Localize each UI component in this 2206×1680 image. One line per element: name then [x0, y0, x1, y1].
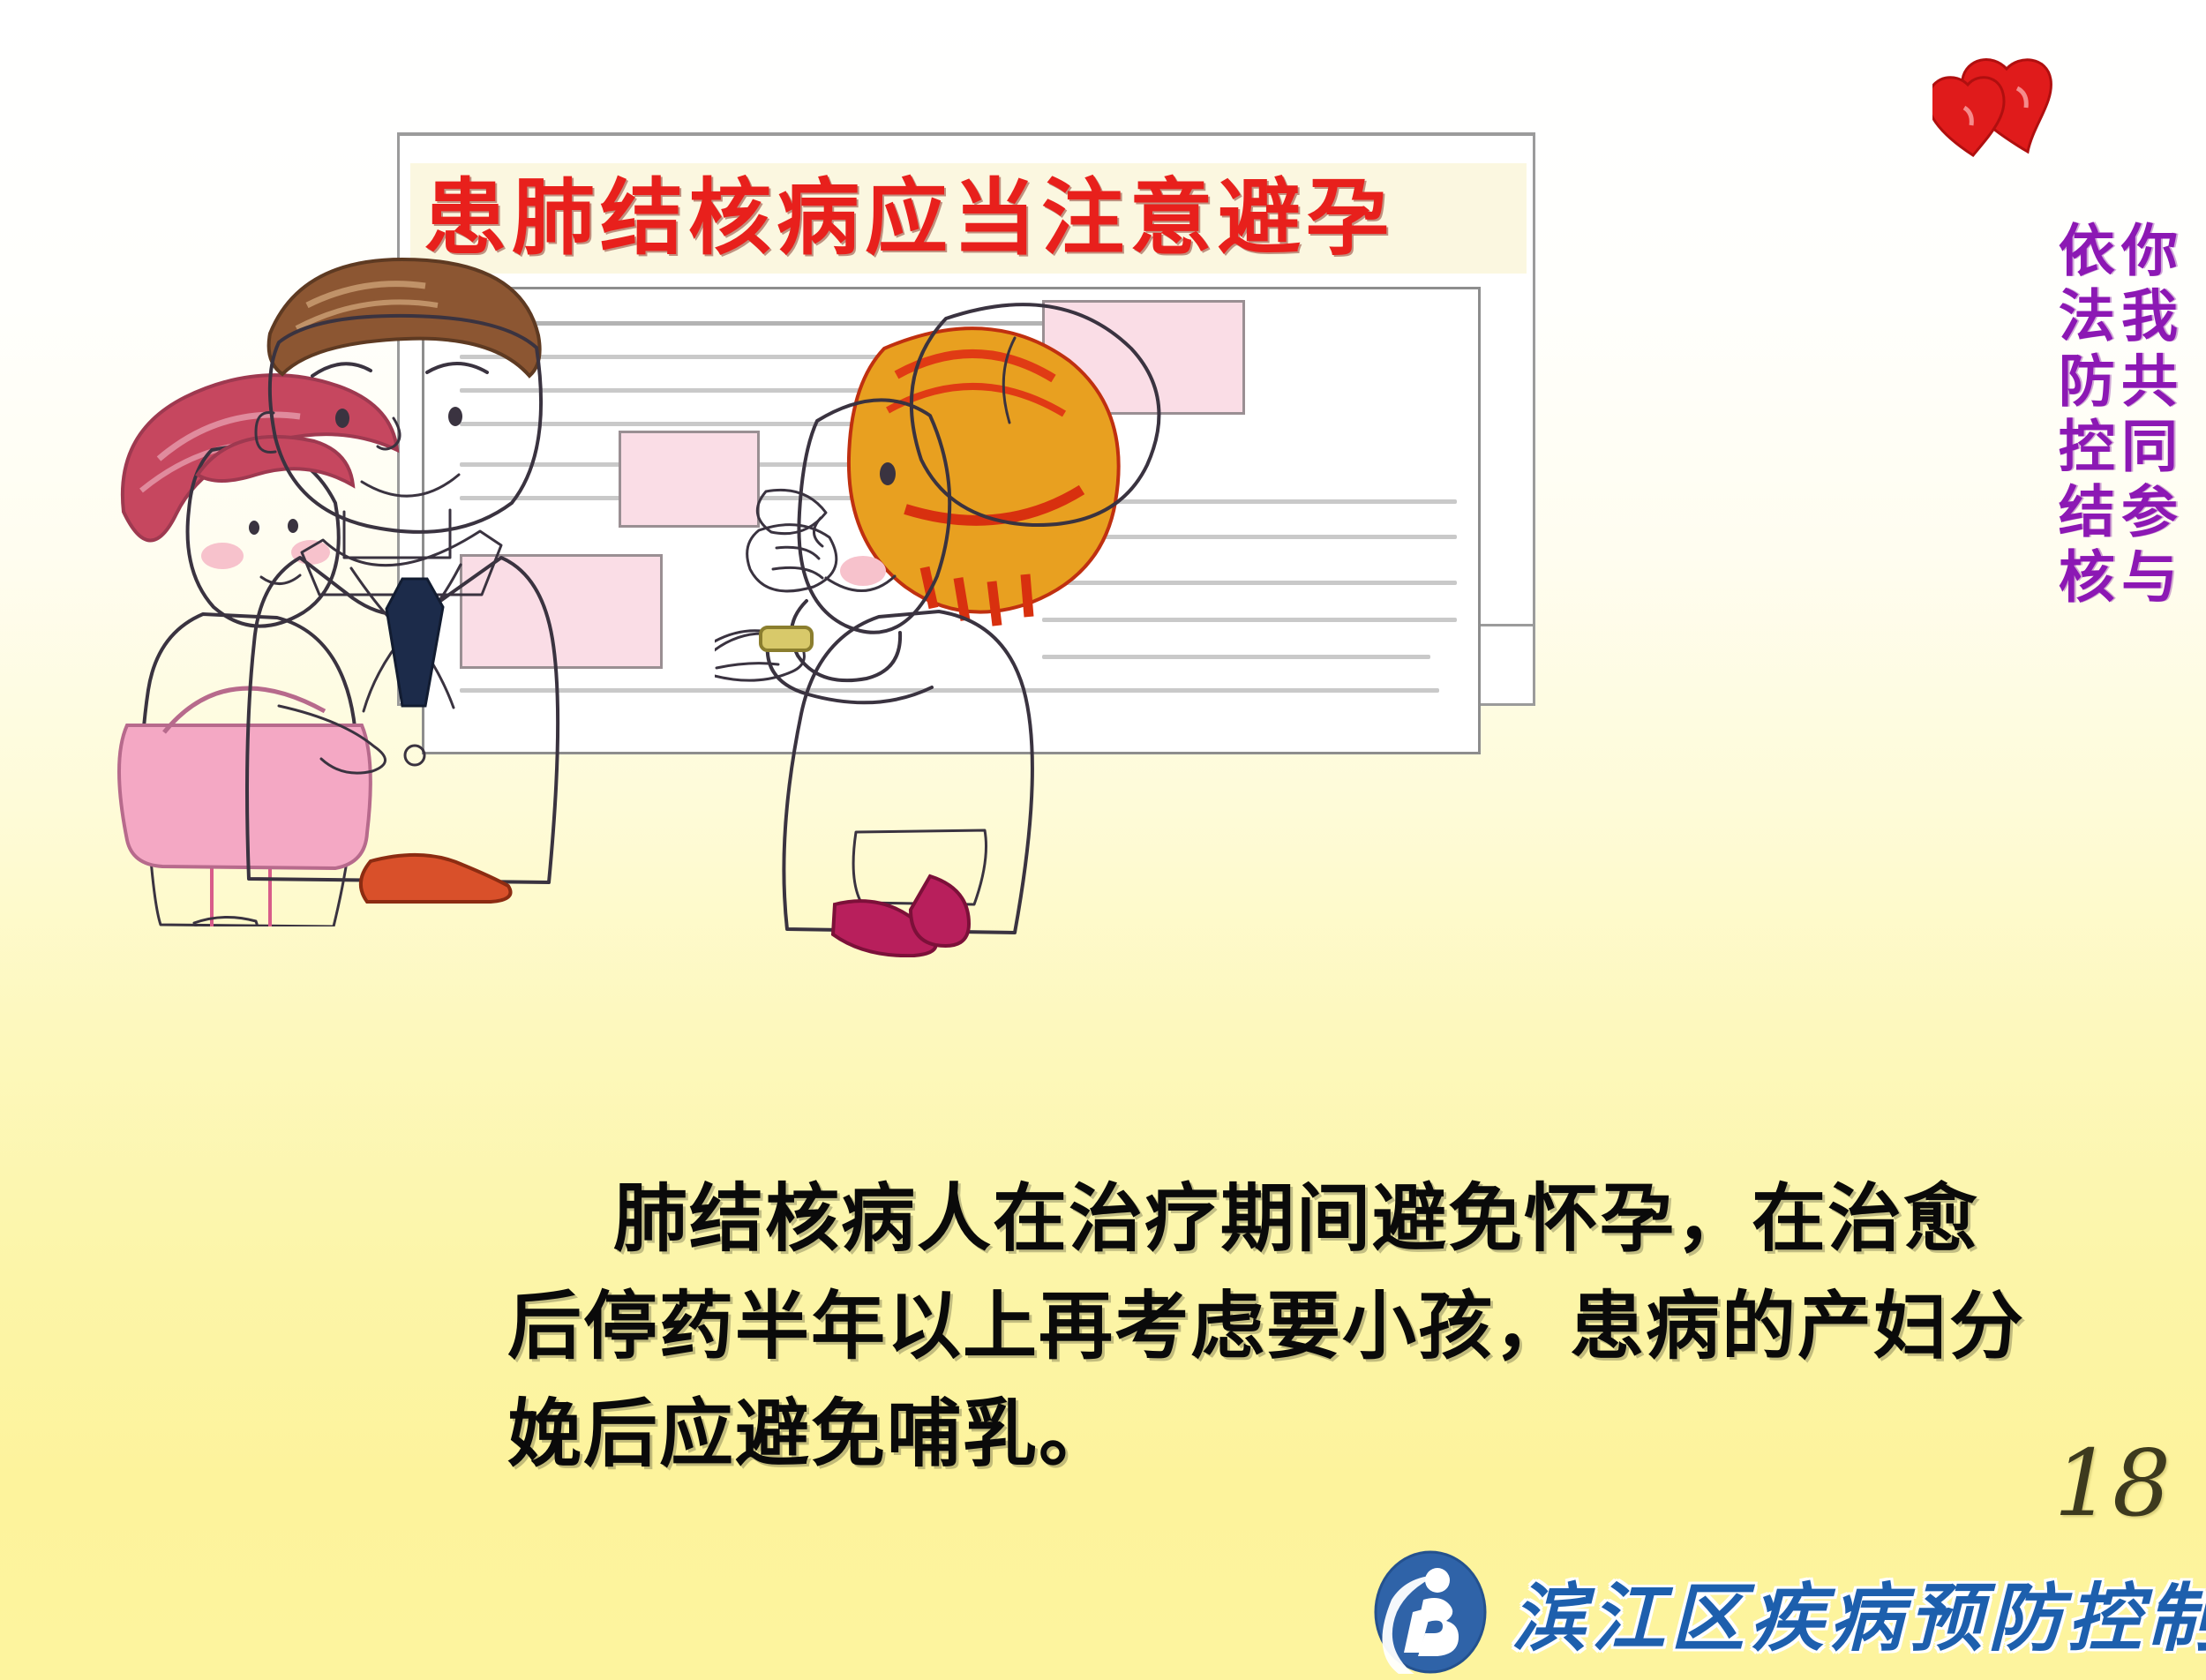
slogan-line-left: 依法防控结核 [2052, 221, 2109, 838]
footer-branding: 滨江区疾病预防控制中心 [1372, 1546, 2206, 1678]
man-eye [335, 409, 349, 428]
footer-organization-name: 滨江区疾病预防控制中心 [1512, 1559, 2206, 1666]
nurse-wristwatch [761, 627, 812, 650]
figure-man-patient [238, 229, 591, 909]
nurse-eye [880, 462, 896, 485]
man-mouth [362, 475, 459, 496]
body-line-3: 娩后应避免哺乳。 [507, 1380, 1972, 1488]
double-heart-icon [1932, 42, 2100, 157]
nurse-coat [784, 611, 1032, 933]
slide-canvas: 患肺结核病应当注意避孕 [0, 0, 2206, 1680]
page-number: 18 [2054, 1429, 2171, 1537]
man-nose [378, 418, 400, 449]
man-suit-button [405, 746, 424, 765]
nurse-fist [747, 525, 837, 591]
man-hair [269, 259, 540, 376]
vertical-slogan: 你我共同参与 依法防控结核 [2040, 221, 2172, 838]
cdc-circle-logo-icon [1372, 1550, 1489, 1674]
man-shoe [361, 855, 511, 902]
man-brow [312, 364, 371, 376]
body-line-2: 后停药半年以上再考虑要小孩，患病的产妇分 [507, 1272, 1972, 1380]
illustration: 患肺结核病应当注意避孕 [106, 132, 1535, 1191]
slogan-line-right: 你我共同参与 [2115, 221, 2172, 838]
figure-nurse [715, 287, 1209, 957]
nurse-cheek [840, 556, 886, 586]
man-eye [448, 407, 462, 426]
woman-cheek [201, 543, 244, 569]
man-tie [386, 579, 443, 706]
body-line-1: 肺结核病人在治疗期间避免怀孕，在治愈 [507, 1165, 1972, 1272]
man-brow [427, 364, 487, 372]
man-neck [344, 510, 450, 558]
body-copy: 肺结核病人在治疗期间避免怀孕，在治愈 后停药半年以上再考虑要小孩，患病的产妇分 … [507, 1165, 1972, 1488]
nurse-shoe [911, 876, 969, 946]
